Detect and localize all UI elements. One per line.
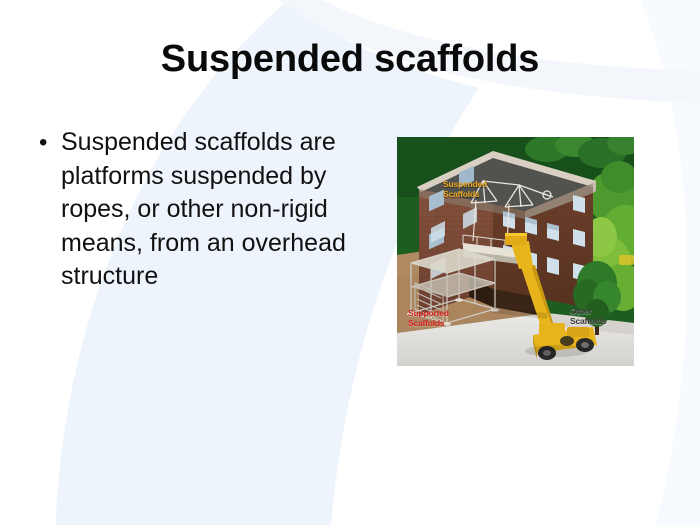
page-title: Suspended scaffolds: [0, 38, 700, 81]
bullet-item-text: Suspended scaffolds are platforms suspen…: [61, 126, 366, 294]
figure-label-supported: Supported Scaffolds: [408, 309, 449, 328]
scaffold-illustration: [397, 137, 634, 366]
slide-canvas: Suspended scaffolds • Suspended scaffold…: [0, 0, 700, 525]
bullet-icon: •: [36, 126, 61, 159]
bullet-list: • Suspended scaffolds are platforms susp…: [36, 126, 366, 294]
figure-label-other: Other Scaffolds: [570, 307, 606, 326]
figure-label-suspended: Suspended Scaffolds: [443, 180, 487, 199]
scaffold-scene-graphic: [397, 137, 634, 366]
list-item: • Suspended scaffolds are platforms susp…: [36, 126, 366, 294]
